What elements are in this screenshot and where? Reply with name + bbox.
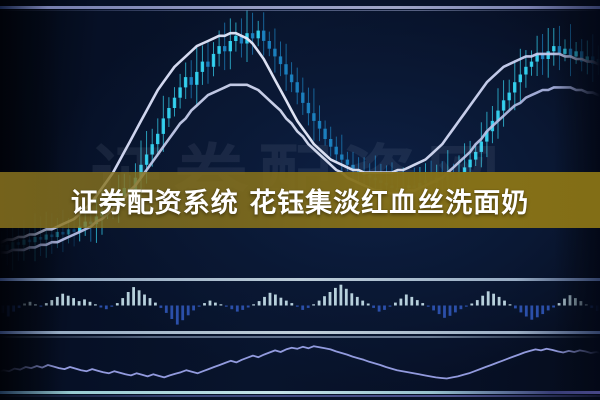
title-banner-band: 证券配资系统 花钰集淡红血丝洗面奶 [0, 172, 600, 228]
oscillator-line [0, 346, 600, 378]
banner-image: 证券配资网 证券配资系统 花钰集淡红血丝洗面奶 [0, 0, 600, 400]
banner-title: 证券配资系统 花钰集淡红血丝洗面奶 [71, 181, 529, 220]
macd-histogram-series [1, 285, 598, 325]
